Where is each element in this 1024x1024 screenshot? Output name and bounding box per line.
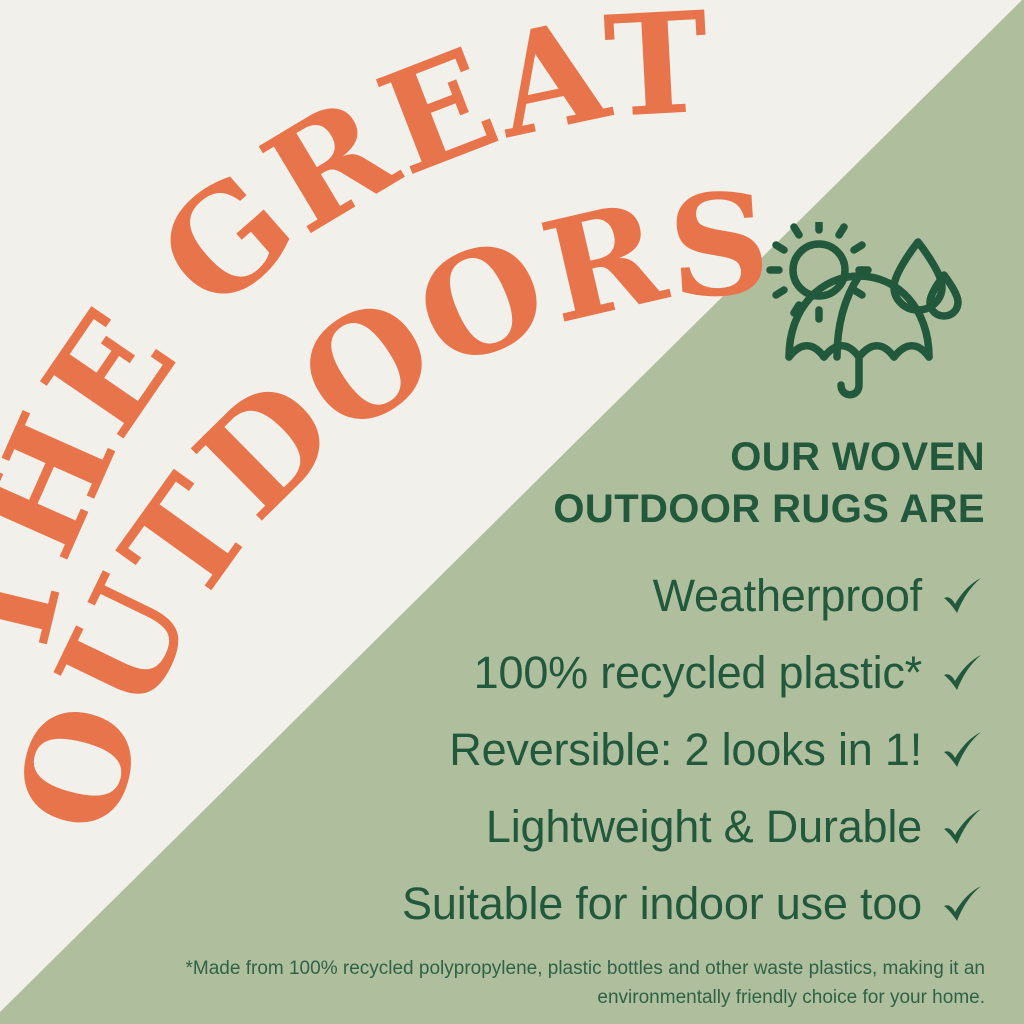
sun-rays [770,222,868,319]
check-icon [939,881,985,927]
weather-icon-wrapper [425,222,963,407]
poster-canvas: THE GREAT OUTDOORS [0,0,1024,1024]
subheading-line-2: OUTDOOR RUGS ARE [553,487,985,531]
check-icon [939,650,985,696]
feature-label: Reversible: 2 looks in 1! [449,724,922,776]
umbrella-scallop-3 [859,346,894,357]
sun-umbrella-raindrops-icon [763,222,963,407]
feature-label: 100% recycled plastic* [474,647,922,699]
feature-row: Reversible: 2 looks in 1! [425,711,985,788]
umbrella-scallop-4 [894,346,929,357]
feature-row: Suitable for indoor use too [425,865,985,942]
feature-label: Suitable for indoor use too [402,878,922,930]
check-icon [939,804,985,850]
umbrella-scallop-2 [824,346,859,357]
feature-list: Weatherproof 100% recycled plastic* Reve… [425,557,985,942]
feature-row: Lightweight & Durable [425,788,985,865]
footnote: *Made from 100% recycled polypropylene, … [145,955,985,1012]
raindrop-large [894,242,942,310]
umbrella-scallop-1 [789,346,824,357]
check-icon [939,727,985,773]
feature-label: Lightweight & Durable [486,801,922,853]
footnote-line-1: *Made from 100% recycled polypropylene, … [186,958,959,979]
subheading: OUR WOVEN OUTDOOR RUGS ARE [425,431,985,535]
feature-row: Weatherproof [425,557,985,634]
content-column: OUR WOVEN OUTDOOR RUGS ARE Weatherproof … [425,0,985,942]
check-icon [939,573,985,619]
umbrella-handle [841,357,859,395]
subheading-line-1: OUR WOVEN [730,435,985,479]
feature-row: 100% recycled plastic* [425,634,985,711]
feature-label: Weatherproof [653,570,922,622]
